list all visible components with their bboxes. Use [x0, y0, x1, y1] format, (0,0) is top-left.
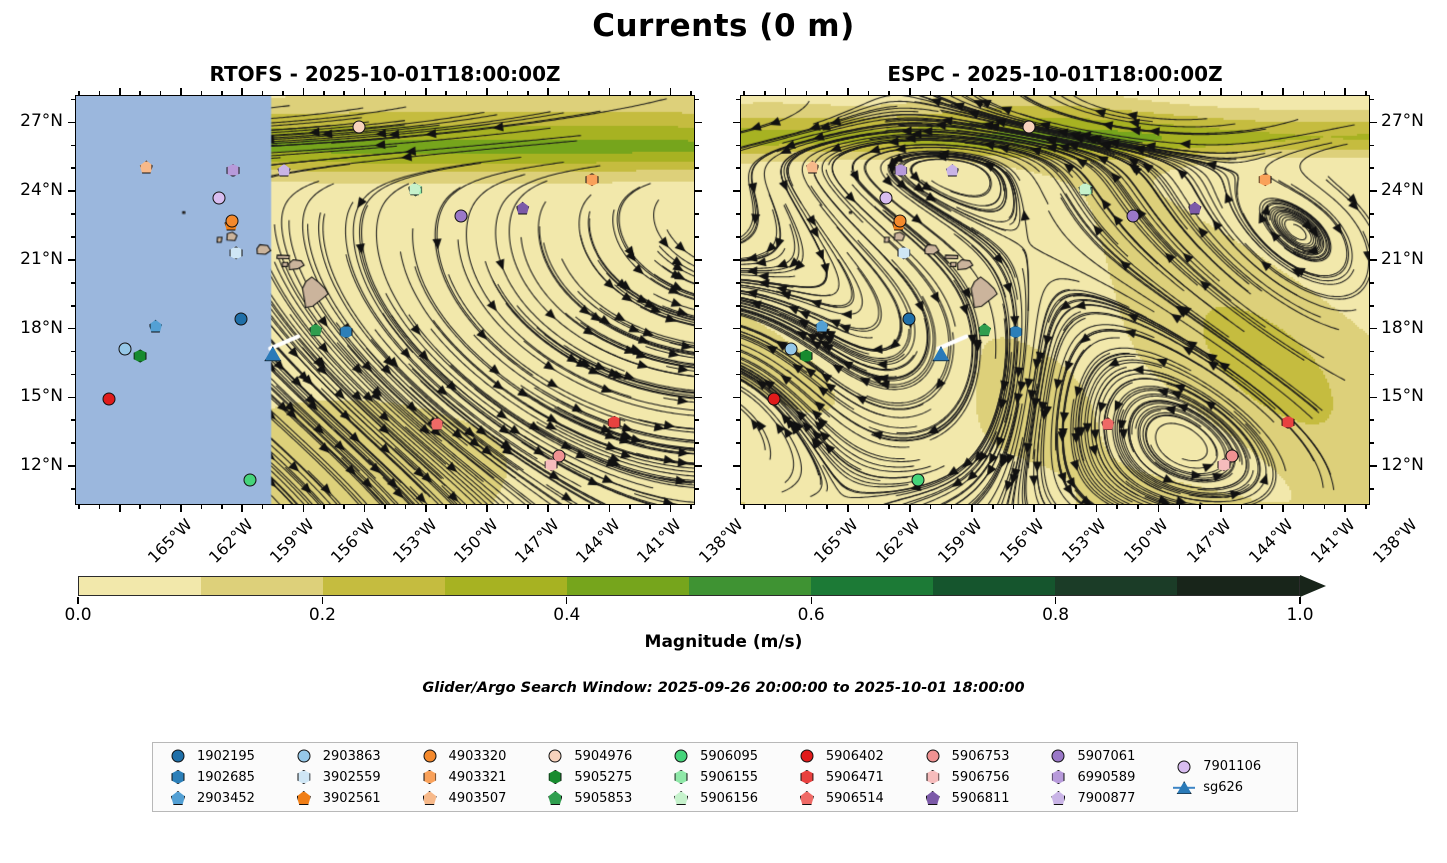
colorbar-gradient [78, 576, 1300, 596]
y-tick-minor [695, 374, 699, 376]
colorbar-title: Magnitude (m/s) [0, 632, 1447, 652]
x-tick [609, 505, 611, 512]
marker-shape [897, 246, 910, 259]
legend-item-2903863[interactable]: 2903863 [285, 747, 411, 765]
marker-shape [926, 791, 940, 805]
x-axis-label: 138°W [694, 515, 746, 567]
x-tick [1158, 505, 1160, 512]
x-tick-minor [764, 91, 766, 95]
y-tick [1370, 122, 1377, 124]
legend-item-5906095[interactable]: 5906095 [662, 747, 788, 765]
legend-column: 290386339025593902561 [285, 747, 411, 807]
map-marker-5907061[interactable] [1126, 210, 1139, 223]
y-tick [695, 465, 702, 467]
y-tick-minor [695, 351, 699, 353]
legend-marker-pent-icon [922, 790, 944, 806]
y-tick-minor [736, 167, 740, 169]
marker-shape [102, 393, 115, 406]
marker-shape [1052, 750, 1065, 763]
x-tick [119, 505, 121, 512]
marker-shape [675, 770, 688, 784]
legend-item-5905853[interactable]: 5905853 [536, 789, 662, 807]
legend-label: 7900877 [1077, 791, 1135, 806]
map-marker-5904976[interactable] [353, 120, 366, 133]
x-tick-minor [262, 91, 264, 95]
legend-column: 590675359067565906811 [914, 747, 1040, 807]
marker-shape [171, 791, 185, 805]
y-tick [1370, 190, 1377, 192]
marker-shape [423, 770, 436, 784]
x-tick-minor [221, 505, 223, 509]
marker-shape [946, 164, 959, 177]
map-marker-5906811[interactable] [1188, 202, 1201, 215]
x-tick-minor [992, 91, 994, 95]
x-axis-label: 138°W [1369, 515, 1421, 567]
map-marker-4903321[interactable] [585, 173, 598, 186]
x-axis-label: 147°W [511, 515, 563, 567]
colorbar-tick-label: 0.8 [1042, 605, 1069, 625]
map-marker-5907061[interactable] [455, 210, 468, 223]
y-tick-minor [71, 419, 75, 421]
x-tick-minor [629, 505, 631, 509]
x-tick-minor [405, 505, 407, 509]
x-axis-label: 153°W [389, 515, 441, 567]
x-tick-minor [139, 505, 141, 509]
platform-legend[interactable]: 1902195190268529034522903863390255939025… [152, 742, 1298, 812]
x-tick-minor [951, 91, 953, 95]
legend-label: 5906471 [826, 770, 884, 785]
x-tick-minor [343, 91, 345, 95]
x-tick [971, 505, 973, 512]
legend-column: 190219519026852903452 [159, 747, 285, 807]
colorbar-tick [1299, 597, 1300, 604]
map-marker-5906471[interactable] [608, 416, 621, 429]
y-tick [1370, 328, 1377, 330]
x-tick-minor [78, 505, 80, 509]
marker-shape [800, 791, 814, 805]
colorbar-tick-label: 1.0 [1286, 605, 1313, 625]
y-tick [695, 397, 702, 399]
x-tick-minor [1199, 505, 1201, 509]
legend-item-5906756[interactable]: 5906756 [914, 768, 1040, 786]
map-marker-4903507[interactable] [140, 161, 153, 174]
legend-label: 5906753 [952, 749, 1010, 764]
x-tick-minor [568, 505, 570, 509]
x-tick [1158, 88, 1160, 95]
x-axis-label: 156°W [996, 515, 1048, 567]
legend-label: 5905275 [574, 770, 632, 785]
legend-label: 4903507 [449, 791, 507, 806]
x-tick [609, 88, 611, 95]
y-tick-minor [1370, 167, 1374, 169]
legend-item-4903321[interactable]: 4903321 [411, 768, 537, 786]
x-tick [303, 88, 305, 95]
marker-shape [309, 323, 322, 336]
y-tick-minor [695, 442, 699, 444]
x-tick-minor [323, 91, 325, 95]
legend-item-5907061[interactable]: 5907061 [1039, 747, 1165, 765]
x-tick-minor [1199, 91, 1201, 95]
x-tick-minor [649, 505, 651, 509]
x-tick-minor [588, 91, 590, 95]
legend-item-5906155[interactable]: 5906155 [662, 768, 788, 786]
legend-item-5906156[interactable]: 5906156 [662, 789, 788, 807]
map-marker-4903507[interactable] [806, 161, 819, 174]
map-marker-3902559[interactable] [897, 246, 910, 259]
y-axis-label: 12°N [1381, 455, 1424, 475]
marker-shape [585, 173, 598, 186]
map-marker-2903452[interactable] [149, 320, 162, 333]
legend-column: 7901106sg626 [1165, 747, 1291, 807]
marker-shape [800, 750, 813, 763]
y-tick-minor [1370, 145, 1374, 147]
x-axis-label: 159°W [934, 515, 986, 567]
legend-marker-pent-icon [419, 790, 441, 806]
y-tick-minor [1370, 305, 1374, 307]
y-tick-minor [736, 305, 740, 307]
y-tick-minor [1370, 99, 1374, 101]
x-tick-minor [201, 91, 203, 95]
y-tick [68, 259, 75, 261]
x-tick [364, 505, 366, 512]
map-marker-5905275[interactable] [800, 349, 813, 362]
y-tick-minor [71, 167, 75, 169]
marker-shape [1188, 202, 1201, 215]
y-tick [68, 122, 75, 124]
y-tick [733, 122, 740, 124]
map-marker-7901106[interactable] [212, 191, 225, 204]
y-tick-minor [1370, 236, 1374, 238]
marker-shape [278, 164, 291, 177]
colorbar [78, 576, 1300, 596]
map-panel-rtofs[interactable] [75, 95, 695, 505]
x-tick [425, 88, 427, 95]
map-marker-5906514[interactable] [1101, 417, 1114, 430]
colorbar-tick-label: 0.0 [64, 605, 91, 625]
legend-item-4903507[interactable]: 4903507 [411, 789, 537, 807]
map-marker-1902195[interactable] [235, 313, 248, 326]
marker-shape [227, 164, 240, 177]
map-marker-5905275[interactable] [134, 349, 147, 362]
legend-item-5904976[interactable]: 5904976 [536, 747, 662, 765]
y-tick-minor [736, 442, 740, 444]
legend-item-7901106[interactable]: 7901106 [1165, 758, 1291, 776]
panel-title-rtofs: RTOFS - 2025-10-01T18:00:00Z [75, 62, 695, 86]
x-tick [303, 505, 305, 512]
marker-shape [1282, 416, 1295, 429]
page-title: Currents (0 m) [0, 8, 1447, 44]
marker-shape [340, 325, 353, 338]
y-tick [1370, 465, 1377, 467]
legend-item-sg626[interactable]: sg626 [1165, 779, 1291, 797]
map-marker-5905853[interactable] [978, 323, 991, 336]
map-marker-1902685[interactable] [340, 325, 353, 338]
x-axis-label: 147°W [1183, 515, 1235, 567]
map-marker-5906471[interactable] [1282, 416, 1295, 429]
map-marker-5906402[interactable] [102, 393, 115, 406]
x-tick-minor [1365, 505, 1367, 509]
x-tick-minor [384, 505, 386, 509]
x-tick-minor [868, 505, 870, 509]
legend-item-5905275[interactable]: 5905275 [536, 768, 662, 786]
map-marker-1902195[interactable] [902, 313, 915, 326]
legend-item-5906753[interactable]: 5906753 [914, 747, 1040, 765]
map-panel-espc[interactable] [740, 95, 1370, 505]
map-marker-5906756[interactable] [545, 458, 558, 471]
legend-marker-circle-icon [293, 748, 315, 764]
legend-item-5906811[interactable]: 5906811 [914, 789, 1040, 807]
legend-item-1902685[interactable]: 1902685 [159, 768, 285, 786]
y-axis-label: 15°N [0, 386, 63, 406]
x-tick-minor [568, 91, 570, 95]
y-tick [733, 397, 740, 399]
legend-item-6990589[interactable]: 6990589 [1039, 768, 1165, 786]
marker-shape [932, 346, 949, 361]
y-tick-minor [1370, 351, 1374, 353]
colorbar-band-2 [323, 577, 445, 595]
marker-shape [608, 416, 621, 429]
y-tick [68, 465, 75, 467]
marker-shape [1079, 182, 1092, 195]
map-marker-sg626[interactable] [932, 346, 949, 361]
y-axis-label: 27°N [0, 111, 63, 131]
legend-item-4903320[interactable]: 4903320 [411, 747, 537, 765]
map-marker-5906156[interactable] [408, 182, 421, 195]
marker-shape [800, 770, 813, 784]
x-tick-minor [1137, 91, 1139, 95]
y-tick-minor [1370, 488, 1374, 490]
x-tick [1220, 505, 1222, 512]
y-tick-minor [1370, 282, 1374, 284]
y-tick [68, 328, 75, 330]
legend-item-5906514[interactable]: 5906514 [788, 789, 914, 807]
legend-marker-circle-icon [167, 748, 189, 764]
x-axis-label: 144°W [572, 515, 624, 567]
y-axis-label: 21°N [0, 249, 63, 269]
map-marker-1902685[interactable] [1009, 325, 1022, 338]
colorbar-band-7 [933, 577, 1055, 595]
marker-shape [800, 349, 813, 362]
x-tick [909, 88, 911, 95]
x-tick-minor [1261, 505, 1263, 509]
marker-shape [674, 791, 688, 805]
x-tick [1282, 505, 1284, 512]
x-axis-label: 150°W [450, 515, 502, 567]
legend-label: 3902561 [323, 791, 381, 806]
y-tick-minor [695, 99, 699, 101]
legend-label: 5905853 [574, 791, 632, 806]
y-axis-label: 27°N [1381, 111, 1424, 131]
x-tick [425, 505, 427, 512]
colorbar-band-8 [1055, 577, 1177, 595]
map-marker-4903320[interactable] [893, 214, 906, 227]
y-tick-minor [71, 145, 75, 147]
map-marker-2903863[interactable] [118, 343, 131, 356]
legend-item-1902195[interactable]: 1902195 [159, 747, 285, 765]
y-tick-minor [1370, 442, 1374, 444]
panel-title-espc: ESPC - 2025-10-01T18:00:00Z [740, 62, 1370, 86]
map-marker-3902559[interactable] [230, 246, 243, 259]
map-marker-7900877[interactable] [946, 164, 959, 177]
x-tick [909, 505, 911, 512]
x-tick-minor [930, 505, 932, 509]
marker-shape [212, 191, 225, 204]
x-tick [1096, 505, 1098, 512]
legend-marker-circle-icon [1047, 748, 1069, 764]
legend-item-5906402[interactable]: 5906402 [788, 747, 914, 765]
marker-shape [549, 750, 562, 763]
legend-item-3902559[interactable]: 3902559 [285, 768, 411, 786]
marker-shape [226, 214, 239, 227]
legend-item-3902561[interactable]: 3902561 [285, 789, 411, 807]
x-tick-minor [1013, 505, 1015, 509]
marker-shape [1178, 760, 1191, 773]
map-marker-5906095[interactable] [912, 473, 925, 486]
x-tick-minor [1075, 505, 1077, 509]
marker-shape [815, 320, 828, 333]
x-tick-minor [262, 505, 264, 509]
y-tick [733, 259, 740, 261]
legend-marker-hex-icon [1047, 769, 1069, 785]
legend-marker-hex-icon [419, 769, 441, 785]
map-marker-5906514[interactable] [430, 417, 443, 430]
x-axis-label: 141°W [1307, 515, 1359, 567]
marker-shape [297, 791, 311, 805]
x-tick-minor [1054, 505, 1056, 509]
marker-shape [118, 343, 131, 356]
y-tick-minor [736, 374, 740, 376]
x-tick-minor [930, 91, 932, 95]
x-tick-minor [139, 91, 141, 95]
x-tick [547, 88, 549, 95]
marker-shape [516, 202, 529, 215]
colorbar-tick [811, 597, 812, 604]
x-tick-minor [160, 505, 162, 509]
marker-shape [926, 750, 939, 763]
marker-shape [1052, 770, 1065, 784]
x-tick [180, 505, 182, 512]
map-marker-5904976[interactable] [1023, 120, 1036, 133]
map-marker-5905853[interactable] [309, 323, 322, 336]
y-tick-minor [71, 374, 75, 376]
x-tick-minor [99, 505, 101, 509]
x-tick-minor [221, 91, 223, 95]
map-marker-7900877[interactable] [278, 164, 291, 177]
map-marker-6990589[interactable] [894, 164, 907, 177]
colorbar-tick-label: 0.2 [309, 605, 336, 625]
marker-shape [912, 473, 925, 486]
map-marker-5906095[interactable] [244, 473, 257, 486]
x-tick-minor [282, 91, 284, 95]
x-tick-minor [1241, 91, 1243, 95]
y-tick [695, 190, 702, 192]
x-tick-minor [466, 91, 468, 95]
x-tick-minor [806, 91, 808, 95]
map-marker-5906156[interactable] [1079, 182, 1092, 195]
legend-marker-hex-icon [167, 769, 189, 785]
legend-marker-pent-icon [544, 790, 566, 806]
colorbar-tick-label: 0.6 [798, 605, 825, 625]
legend-column: 590497659052755905853 [536, 747, 662, 807]
legend-marker-hex-icon [544, 769, 566, 785]
x-tick [971, 88, 973, 95]
map-marker-2903863[interactable] [784, 343, 797, 356]
colorbar-tick [322, 597, 323, 604]
x-tick-minor [888, 91, 890, 95]
marker-shape [423, 750, 436, 763]
legend-column: 590706169905897900877 [1039, 747, 1165, 807]
x-tick-minor [764, 505, 766, 509]
map-marker-sg626[interactable] [264, 346, 281, 361]
map-marker-2903452[interactable] [815, 320, 828, 333]
marker-shape [430, 417, 443, 430]
legend-marker-circle-icon [670, 748, 692, 764]
legend-label: 5906756 [952, 770, 1010, 785]
x-tick-minor [384, 91, 386, 95]
y-tick-minor [71, 99, 75, 101]
x-tick-minor [1303, 91, 1305, 95]
x-tick-minor [323, 505, 325, 509]
x-tick-minor [1324, 91, 1326, 95]
colorbar-over-arrow [1300, 575, 1326, 597]
legend-item-2903452[interactable]: 2903452 [159, 789, 285, 807]
x-tick [785, 505, 787, 512]
y-tick-minor [695, 419, 699, 421]
legend-marker-circle-icon [922, 748, 944, 764]
map-marker-4903321[interactable] [1259, 173, 1272, 186]
marker-shape [244, 473, 257, 486]
colorbar-band-0 [79, 577, 201, 595]
map-marker-7901106[interactable] [880, 191, 893, 204]
x-tick-minor [1116, 505, 1118, 509]
map-marker-5906811[interactable] [516, 202, 529, 215]
x-tick-minor [405, 91, 407, 95]
x-tick-minor [527, 91, 529, 95]
y-axis-label: 21°N [1381, 249, 1424, 269]
colorbar-tick [77, 597, 78, 604]
legend-label: 5906095 [700, 749, 758, 764]
marker-shape [1101, 417, 1114, 430]
y-tick [1370, 397, 1377, 399]
marker-shape [134, 349, 147, 362]
x-tick-minor [282, 505, 284, 509]
y-axis-label: 15°N [1381, 386, 1424, 406]
legend-column: 490332049033214903507 [411, 747, 537, 807]
legend-item-5906471[interactable]: 5906471 [788, 768, 914, 786]
x-tick [180, 88, 182, 95]
map-marker-4903320[interactable] [226, 214, 239, 227]
x-tick-minor [1013, 91, 1015, 95]
legend-item-7900877[interactable]: 7900877 [1039, 789, 1165, 807]
x-axis-label: 144°W [1245, 515, 1297, 567]
marker-shape [1023, 120, 1036, 133]
x-tick-minor [743, 91, 745, 95]
colorbar-tick [1055, 597, 1056, 604]
marker-shape [902, 313, 915, 326]
marker-shape [235, 313, 248, 326]
map-marker-5906756[interactable] [1217, 458, 1230, 471]
x-tick-minor [951, 505, 953, 509]
marker-shape [1259, 173, 1272, 186]
map-marker-6990589[interactable] [227, 164, 240, 177]
x-tick-minor [588, 505, 590, 509]
y-tick-minor [736, 213, 740, 215]
map-marker-5906402[interactable] [768, 393, 781, 406]
x-tick [241, 505, 243, 512]
legend-label: 3902559 [323, 770, 381, 785]
x-tick-minor [445, 91, 447, 95]
legend-label: 7901106 [1203, 759, 1261, 774]
